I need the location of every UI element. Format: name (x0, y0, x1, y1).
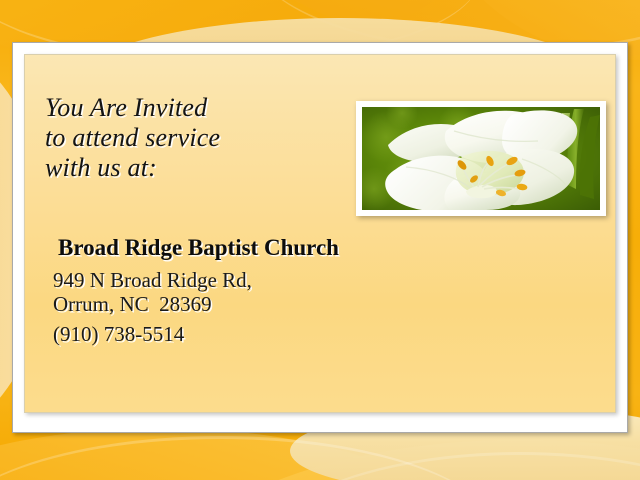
background-swirl-bottom-center (330, 455, 640, 480)
content-panel: You Are Invited to attend service with u… (24, 54, 616, 413)
invitation-headline: You Are Invited to attend service with u… (45, 93, 220, 183)
lily-photo (362, 107, 600, 210)
background-swirl-bottom-left (0, 428, 520, 480)
background-swirl-highlight-bottom-right (260, 452, 640, 480)
church-address: 949 N Broad Ridge Rd, Orrum, NC 28369 (53, 268, 252, 316)
invitation-slide: You Are Invited to attend service with u… (0, 0, 640, 480)
background-swirl-bottom-right (150, 440, 640, 480)
photo-frame (356, 101, 606, 216)
background-swirl-highlight-bottom-left (0, 436, 500, 480)
church-phone: (910) 738-5514 (53, 322, 184, 346)
church-name: Broad Ridge Baptist Church (58, 235, 339, 261)
